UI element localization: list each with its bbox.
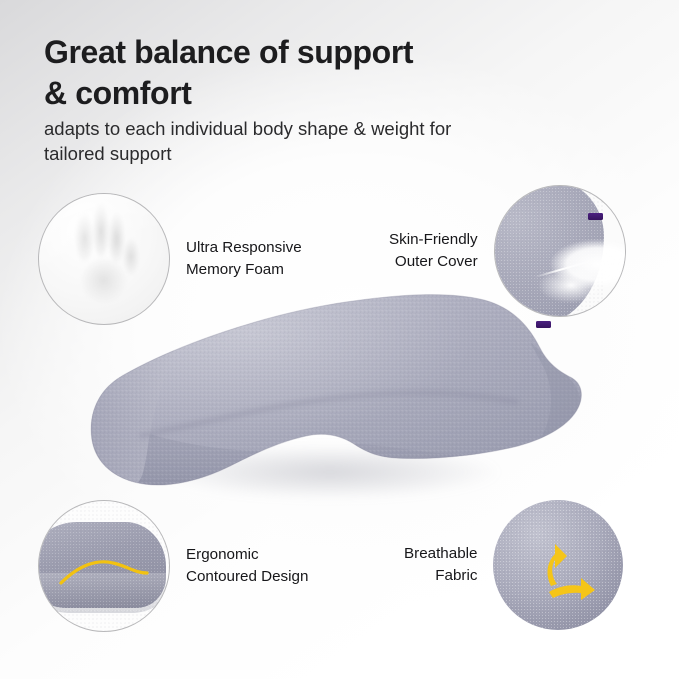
label-line-2: Contoured Design bbox=[186, 566, 308, 588]
label-line-2: Outer Cover bbox=[389, 251, 478, 273]
infographic-page: Great balance of support & comfort adapt… bbox=[0, 0, 679, 679]
label-line-1: Breathable bbox=[404, 543, 477, 565]
feature-ergonomic: Ergonomic Contoured Design bbox=[38, 500, 308, 632]
feature-memory-foam: Ultra Responsive Memory Foam bbox=[38, 193, 302, 325]
airflow-arrows bbox=[493, 500, 623, 630]
contoured-pillow-icon bbox=[38, 500, 170, 632]
feature-ergonomic-label: Ergonomic Contoured Design bbox=[186, 544, 308, 587]
feature-breathable: Breathable Fabric bbox=[404, 500, 623, 630]
contour-curve-icon bbox=[39, 501, 169, 631]
foam-hand-impression-icon bbox=[38, 193, 170, 325]
feather-shape bbox=[531, 235, 626, 316]
foam-sheen bbox=[39, 194, 169, 324]
subtitle-line-2: tailored support bbox=[44, 142, 554, 167]
brand-tag-icon bbox=[588, 213, 603, 220]
label-line-1: Skin-Friendly bbox=[389, 229, 478, 251]
feature-outer-cover-label: Skin-Friendly Outer Cover bbox=[389, 229, 478, 272]
airflow-arrows-icon bbox=[493, 500, 623, 630]
feature-outer-cover: Skin-Friendly Outer Cover bbox=[389, 185, 626, 317]
fabric-feather-icon bbox=[494, 185, 626, 317]
headline-line-2: & comfort bbox=[44, 73, 604, 114]
feature-memory-foam-label: Ultra Responsive Memory Foam bbox=[186, 237, 302, 280]
headline-line-1: Great balance of support bbox=[44, 32, 604, 73]
label-line-1: Ultra Responsive bbox=[186, 237, 302, 259]
label-line-2: Fabric bbox=[404, 565, 477, 587]
label-line-1: Ergonomic bbox=[186, 544, 308, 566]
feature-breathable-label: Breathable Fabric bbox=[404, 543, 477, 586]
brand-tag-icon bbox=[536, 321, 551, 328]
subtitle-line-1: adapts to each individual body shape & w… bbox=[44, 117, 554, 142]
label-line-2: Memory Foam bbox=[186, 259, 302, 281]
page-subtitle: adapts to each individual body shape & w… bbox=[44, 117, 554, 166]
page-title: Great balance of support & comfort bbox=[44, 32, 604, 114]
